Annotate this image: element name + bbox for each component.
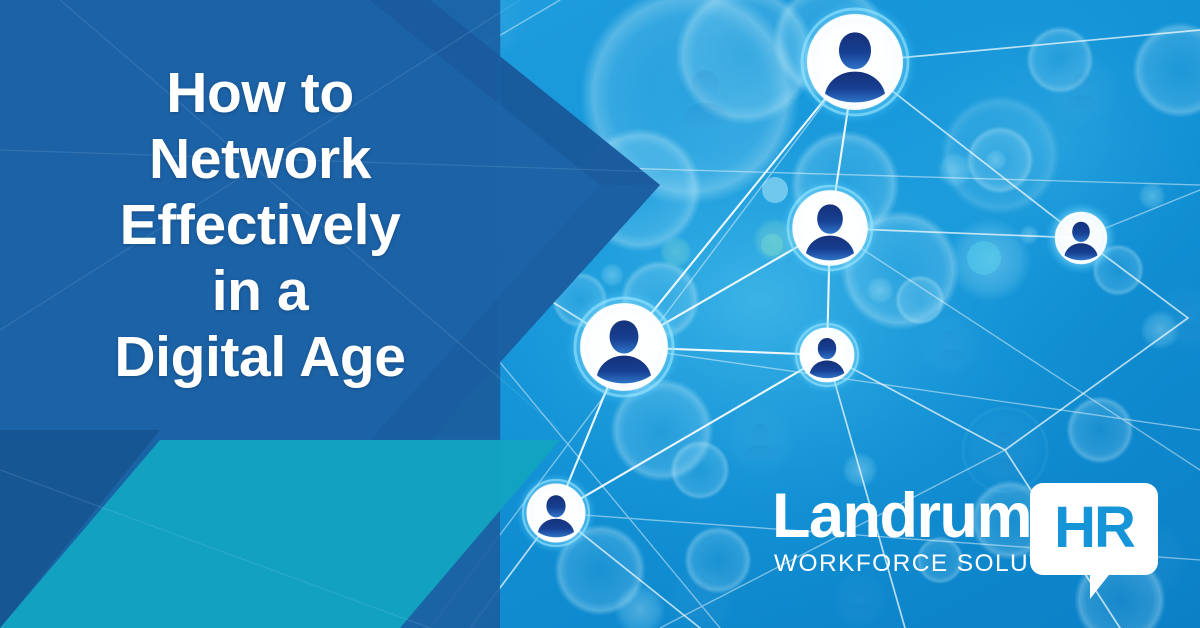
promo-banner: How to Network Effectively in a Digital … — [0, 0, 1200, 628]
network-node — [1045, 202, 1117, 274]
network-node — [789, 317, 865, 393]
logo-wordmark: Landrum — [772, 485, 1031, 548]
network-node — [566, 289, 682, 405]
network-node — [516, 473, 596, 553]
logo-tagline: WORKFORCE SOLUTIONS — [774, 551, 1111, 576]
landrumhr-logo[interactable]: Landrum HR WORKFORCE SOLUTIONS — [768, 483, 1160, 591]
network-node — [793, 0, 917, 124]
network-node — [780, 178, 880, 278]
